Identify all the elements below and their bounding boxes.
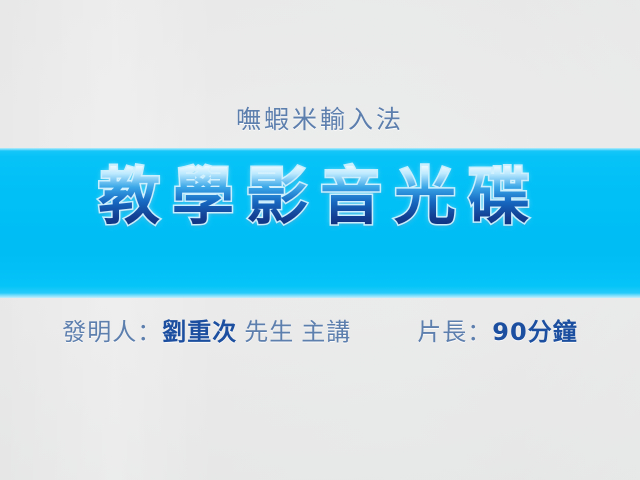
title-banner-band: 教學影音光碟 教學影音光碟 教學影音光碟 xyxy=(0,148,640,298)
band-bottom-edge xyxy=(0,293,640,298)
main-title: 教學影音光碟 xyxy=(98,166,542,228)
main-title-wrap: 教學影音光碟 xyxy=(0,166,640,228)
duration-label: 片長： xyxy=(417,316,492,348)
title-card-screen: 嘸蝦米輸入法 教學影音光碟 教學影音光碟 教學影音光碟 發明人： 劉重次 先生 … xyxy=(0,0,640,480)
main-title-reflection-wrap: 教學影音光碟 xyxy=(0,248,640,296)
inventor-name: 劉重次 xyxy=(162,316,237,348)
inventor-honorific: 先生 xyxy=(244,316,294,348)
product-subtitle: 嘸蝦米輸入法 xyxy=(0,104,640,136)
presenter-note: 主講 xyxy=(301,316,351,348)
inventor-label: 發明人： xyxy=(62,316,162,348)
band-top-edge xyxy=(0,148,640,151)
credits-line: 發明人： 劉重次 先生 主講 片長： 90分鐘 xyxy=(0,316,640,348)
duration-credit: 片長： 90分鐘 xyxy=(417,316,577,348)
inventor-credit: 發明人： 劉重次 先生 主講 xyxy=(62,316,351,348)
duration-value: 90分鐘 xyxy=(492,316,577,348)
